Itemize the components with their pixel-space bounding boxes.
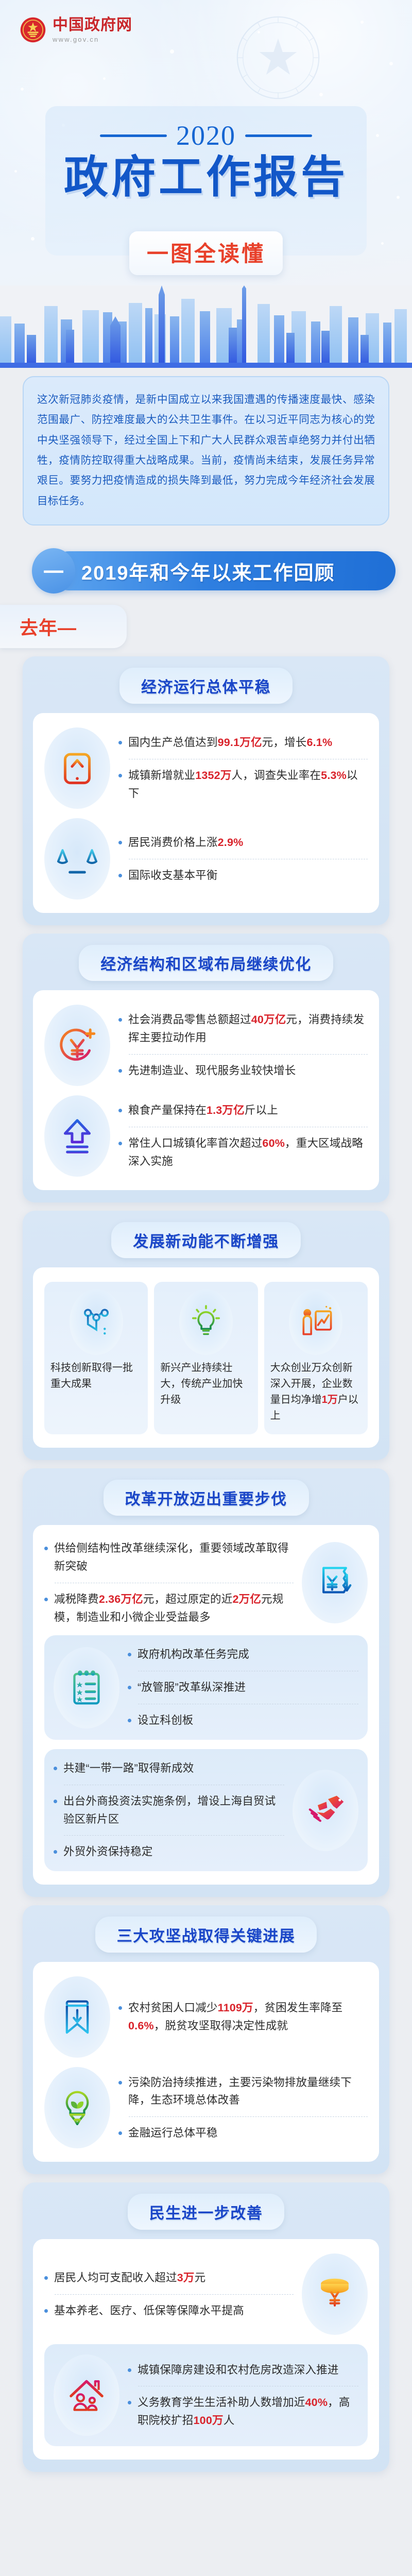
handshake-icon	[304, 1789, 347, 1832]
year-rule-left	[100, 134, 167, 137]
bullet-list: 国内生产总值达到99.1万亿元，增长6.1%城镇新增就业1352万人，调查失业率…	[118, 734, 368, 802]
card-title: 三大攻坚战取得关键进展	[117, 1923, 296, 1946]
bullet-group: 国内生产总值达到99.1万亿元，增长6.1%城镇新增就业1352万人，调查失业率…	[44, 727, 368, 809]
card-title: 民生进一步改善	[149, 2200, 263, 2223]
bullet-subpanel: 城镇保障房建设和农村危房改造深入推进义务教育学生生活补助人数增加近40%，高职院…	[44, 2344, 368, 2446]
bullet-item: 常住人口城镇化率首次超过60%，重大区域战略深入实施	[118, 1134, 368, 1171]
year-tab: 去年—	[0, 605, 127, 648]
card-body: 科技创新取得一批重大成果 新兴产业持续壮大，传统产业加快升级 大众创业万众创新深…	[33, 1267, 379, 1448]
bullet-separator	[129, 2116, 368, 2117]
bullet-text: 设立科创板	[138, 1711, 194, 1730]
bullet-text: 居民人均可支配收入超过3万元	[54, 2269, 205, 2287]
bullet-text: 金融运行总体平稳	[128, 2124, 218, 2142]
card-title-pill: 三大攻坚战取得关键进展	[95, 1917, 317, 1953]
card-notch	[195, 1267, 217, 1277]
bullet-list: 农村贫困人口减少1109万，贫困发生率降至0.6%，脱贫攻坚取得决定性成就	[118, 1999, 368, 2035]
bullet-item: 国内生产总值达到99.1万亿元，增长6.1%	[118, 734, 368, 752]
year-rule-right	[245, 134, 312, 137]
bullet-text: 粮食产量保持在1.3万亿斤以上	[128, 1101, 278, 1120]
icon-container	[44, 818, 110, 900]
bullet-item: 减税降费2.36万亿元，超过原定的近2万亿元规模，制造业和小微企业受益最多	[44, 1590, 294, 1626]
card-title: 经济结构和区域布局继续优化	[100, 952, 312, 974]
hero-banner: 中国政府网 www.gov.cn 2020 政府工作报告 一图全读懂	[0, 0, 412, 289]
bullet-group: 社会消费品零售总额超过40万亿元，消费持续发挥主要拉动作用先进制造业、现代服务业…	[44, 1005, 368, 1086]
bullet-dot	[54, 1767, 57, 1770]
bullet-item: 城镇保障房建设和农村危房改造深入推进	[128, 2361, 358, 2379]
bullet-group: 城镇保障房建设和农村危房改造深入推进义务教育学生生活补助人数增加近40%，高职院…	[54, 2354, 358, 2436]
bullet-text: 国际收支基本平衡	[128, 867, 218, 885]
lightbulb-idea-icon	[187, 1303, 225, 1341]
national-emblem-icon	[20, 16, 46, 43]
bullet-list: 共建“一带一路”取得新成效出台外商投资法实施条例，增设上海自贸试验区新片区外贸外…	[54, 1759, 284, 1861]
bullet-item: 粮食产量保持在1.3万亿斤以上	[118, 1101, 368, 1120]
momentum-text: 新兴产业持续壮大，传统产业加快升级	[160, 1360, 251, 1408]
bullet-text: 农村贫困人口减少1109万，贫困发生率降至0.6%，脱贫攻坚取得决定性成就	[128, 1999, 368, 2035]
content-card: 经济结构和区域布局继续优化 社会消费品零售总额超过40万亿元，消费持续发挥主要拉…	[23, 934, 389, 1202]
bullet-item: 政府机构改革任务完成	[128, 1646, 358, 1664]
balance-scale-icon	[56, 837, 99, 880]
bullet-separator	[138, 1671, 358, 1671]
card-body: 居民人均可支配收入超过3万元基本养老、医疗、低保等保障水平提高 城镇保障房建设和…	[33, 2239, 379, 2460]
bullet-item: 污染防治持续推进，主要污染物排放量继续下降，生态环境总体改善	[118, 2074, 368, 2110]
bullet-text: 城镇新增就业1352万人，调查失业率在5.3%以下	[128, 767, 368, 803]
momentum-column: 大众创业万众创新深入开展，企业数量日均净增1万户以上	[264, 1282, 368, 1434]
hero-title-card: 2020 政府工作报告 一图全读懂	[45, 106, 367, 256]
card-title-pill: 发展新动能不断增强	[111, 1222, 301, 1258]
bullet-item: 居民消费价格上涨2.9%	[118, 834, 368, 852]
bullet-separator	[129, 1127, 368, 1127]
bullet-text: “放管服”改革纵深推进	[138, 1679, 246, 1697]
card-title: 经济运行总体平稳	[141, 674, 271, 697]
bullet-separator	[138, 2386, 358, 2386]
bullet-separator	[129, 759, 368, 759]
bullet-separator	[64, 1835, 284, 1836]
card-title: 改革开放迈出重要步伐	[125, 1486, 287, 1509]
section-title: 2019年和今年以来工作回顾	[81, 557, 335, 585]
section-ordinal: 一	[43, 556, 64, 586]
bullet-item: 先进制造业、现代服务业较快增长	[118, 1062, 368, 1080]
bullet-text: 政府机构改革任务完成	[138, 1646, 249, 1664]
bullet-dot	[118, 874, 122, 877]
icon-container	[44, 1976, 110, 2058]
bullet-separator	[138, 1704, 358, 1704]
icon-container	[179, 1289, 233, 1355]
bullet-text: 供给侧结构性改革继续深化，重要领域改革取得新突破	[54, 1539, 294, 1575]
brand-name: 中国政府网	[53, 18, 132, 33]
bullet-subpanel: 政府机构改革任务完成“放管服”改革纵深推进设立科创板	[44, 1635, 368, 1739]
city-skyline-illustration	[0, 285, 412, 368]
bullet-text: 基本养老、医疗、低保等保障水平提高	[54, 2302, 244, 2320]
person-growth-chart-icon	[297, 1303, 335, 1341]
momentum-column: 科技创新取得一批重大成果	[44, 1282, 148, 1434]
bullet-list: 居民人均可支配收入超过3万元基本养老、医疗、低保等保障水平提高	[44, 2269, 294, 2320]
content-card: 改革开放迈出重要步伐 供给侧结构性改革继续深化，重要领域改革取得新突破减税降费2…	[23, 1468, 389, 1897]
bullet-list: 城镇保障房建设和农村危房改造深入推进义务教育学生生活补助人数增加近40%，高职院…	[128, 2361, 358, 2430]
bullet-dot	[128, 1719, 131, 1722]
bullet-text: 义务教育学生生活补助人数增加近40%，高职院校扩招100万人	[138, 2394, 358, 2430]
icon-container	[70, 1289, 123, 1355]
card-notch	[195, 2239, 217, 2248]
section-ordinal-badge: 一	[32, 548, 75, 594]
bullet-group: 居民消费价格上涨2.9%国际收支基本平衡	[44, 818, 368, 900]
card-notch	[195, 1962, 217, 1971]
bullet-separator	[55, 2294, 294, 2295]
bullet-group: 居民人均可支配收入超过3万元基本养老、医疗、低保等保障水平提高	[44, 2253, 368, 2335]
bullet-separator	[64, 1785, 284, 1785]
bullet-group: 污染防治持续推进，主要污染物排放量继续下降，生态环境总体改善金融运行总体平稳	[44, 2067, 368, 2148]
site-brand[interactable]: 中国政府网 www.gov.cn	[20, 16, 132, 43]
bullet-item: 供给侧结构性改革继续深化，重要领域改革取得新突破	[44, 1539, 294, 1575]
bullet-text: 污染防治持续推进，主要污染物排放量继续下降，生态环境总体改善	[128, 2074, 368, 2110]
bullet-item: 设立科创板	[128, 1711, 358, 1730]
bullet-dot	[128, 1686, 131, 1689]
bullet-item: 农村贫困人口减少1109万，贫困发生率降至0.6%，脱贫攻坚取得决定性成就	[118, 1999, 368, 2035]
bullet-item: 出台外商投资法实施条例，增设上海自贸试验区新片区	[54, 1792, 284, 1828]
icon-container	[302, 2253, 368, 2335]
card-title-pill: 经济运行总体平稳	[119, 668, 293, 704]
icon-container	[293, 1770, 358, 1851]
bullet-item: 国际收支基本平衡	[118, 867, 368, 885]
brand-url: www.gov.cn	[53, 36, 132, 43]
icon-container	[54, 2354, 119, 2436]
card-notch	[195, 990, 217, 999]
year-tab-label: 去年—	[20, 613, 77, 640]
bullet-dot	[118, 774, 122, 777]
bullet-item: 义务教育学生生活补助人数增加近40%，高职院校扩招100万人	[128, 2394, 358, 2430]
bullet-subpanel: 共建“一带一路”取得新成效出台外商投资法实施条例，增设上海自贸试验区新片区外贸外…	[44, 1749, 368, 1871]
bullet-list: 政府机构改革任务完成“放管服”改革纵深推进设立科创板	[128, 1646, 358, 1729]
bullet-dot	[54, 1850, 57, 1854]
national-emblem-watermark-icon	[221, 1, 335, 114]
bullet-dot	[118, 2081, 122, 2084]
bullet-item: 金融运行总体平稳	[118, 2124, 368, 2142]
bullet-group: 供给侧结构性改革继续深化，重要领域改革取得新突破减税降费2.36万亿元，超过原定…	[44, 1539, 368, 1626]
hero-subtitle-pill: 一图全读懂	[129, 231, 283, 275]
card-notch	[195, 1525, 217, 1534]
icon-container	[54, 1647, 119, 1728]
bullet-dot	[118, 1109, 122, 1112]
card-notch	[195, 713, 217, 722]
infographic-page: 中国政府网 www.gov.cn 2020 政府工作报告 一图全读懂	[0, 0, 412, 2486]
bullet-text: 出台外商投资法实施条例，增设上海自贸试验区新片区	[63, 1792, 284, 1828]
bullet-dot	[44, 1547, 48, 1550]
bullet-list: 粮食产量保持在1.3万亿斤以上常住人口城镇化率首次超过60%，重大区域战略深入实…	[118, 1101, 368, 1170]
card-body: 农村贫困人口减少1109万，贫困发生率降至0.6%，脱贫攻坚取得决定性成就 污染…	[33, 1962, 379, 2162]
bullet-text: 常住人口城镇化率首次超过60%，重大区域战略深入实施	[128, 1134, 368, 1171]
bullet-dot	[44, 2276, 48, 2280]
momentum-column: 新兴产业持续壮大，传统产业加快升级	[154, 1282, 257, 1434]
eco-leaf-bulb-icon	[56, 2086, 99, 2129]
bullet-group: 农村贫困人口减少1109万，贫困发生率降至0.6%，脱贫攻坚取得决定性成就	[44, 1976, 368, 2058]
content-card: 发展新动能不断增强 科技创新取得一批重大成果 新兴产业持续壮大，传统产业加快升级	[23, 1211, 389, 1460]
bullet-list: 社会消费品零售总额超过40万亿元，消费持续发挥主要拉动作用先进制造业、现代服务业…	[118, 1011, 368, 1079]
intro-card: 这次新冠肺炎疫情，是新中国成立以来我国遭遇的传播速度最快、感染范围最广、防控难度…	[23, 376, 389, 526]
bullet-separator	[129, 1054, 368, 1055]
bullet-dot	[118, 2006, 122, 2010]
section-header-one: 2019年和今年以来工作回顾 一	[20, 548, 412, 594]
card-title-pill: 民生进一步改善	[128, 2194, 285, 2230]
icon-container	[44, 1095, 110, 1177]
bullet-dot	[128, 2401, 131, 2404]
bullet-item: 社会消费品零售总额超过40万亿元，消费持续发挥主要拉动作用	[118, 1011, 368, 1047]
bullet-item: “放管服”改革纵深推进	[128, 1679, 358, 1697]
hero-subtitle: 一图全读懂	[147, 236, 265, 268]
section-title-pill: 2019年和今年以来工作回顾	[49, 551, 396, 590]
bullet-text: 国内生产总值达到99.1万亿元，增长6.1%	[128, 734, 332, 752]
bullet-text: 先进制造业、现代服务业较快增长	[128, 1062, 296, 1080]
card-body: 供给侧结构性改革继续深化，重要领域改革取得新突破减税降费2.36万亿元，超过原定…	[33, 1525, 379, 1885]
momentum-text: 科技创新取得一批重大成果	[50, 1360, 142, 1392]
bullet-group: 粮食产量保持在1.3万亿斤以上常住人口城镇化率首次超过60%，重大区域战略深入实…	[44, 1095, 368, 1177]
content-card: 三大攻坚战取得关键进展 农村贫困人口减少1109万，贫困发生率降至0.6%，脱贫…	[23, 1905, 389, 2174]
momentum-trio: 科技创新取得一批重大成果 新兴产业持续壮大，传统产业加快升级 大众创业万众创新深…	[44, 1282, 368, 1434]
bullet-text: 减税降费2.36万亿元，超过原定的近2万亿元规模，制造业和小微企业受益最多	[54, 1590, 294, 1626]
circuit-node-icon	[77, 1303, 115, 1341]
icon-container	[302, 1542, 368, 1623]
bullet-item: 城镇新增就业1352万人，调查失业率在5.3%以下	[118, 767, 368, 803]
arrow-up-lines-icon	[56, 1114, 99, 1158]
bullet-dot	[118, 1069, 122, 1073]
card-title-pill: 经济结构和区域布局继续优化	[79, 945, 333, 981]
bullet-list: 供给侧结构性改革继续深化，重要领域改革取得新突破减税降费2.36万亿元，超过原定…	[44, 1539, 294, 1626]
intro-section: 这次新冠肺炎疫情，是新中国成立以来我国遭遇的传播速度最快、感染范围最广、防控难度…	[0, 368, 412, 526]
hero-year: 2020	[176, 120, 236, 151]
bullet-dot	[128, 2368, 131, 2372]
hero-title: 政府工作报告	[45, 154, 367, 201]
house-family-icon	[65, 2374, 108, 2417]
bullet-dot	[44, 2309, 48, 2313]
bullet-dot	[118, 841, 122, 844]
bullet-item: 外贸外资保持稳定	[54, 1843, 284, 1861]
ribbon-down-icon	[56, 1995, 99, 2039]
icon-container	[44, 2067, 110, 2148]
bullet-item: 居民人均可支配收入超过3万元	[44, 2269, 294, 2287]
bullet-item: 共建“一带一路”取得新成效	[54, 1759, 284, 1777]
content-card: 民生进一步改善 居民人均可支配收入超过3万元基本养老、医疗、低保等保障水平提高 …	[23, 2182, 389, 2472]
bullet-item: 基本养老、医疗、低保等保障水平提高	[44, 2302, 294, 2320]
arrow-up-in-box-icon	[56, 747, 99, 790]
coin-stack-yuan-icon	[313, 2273, 356, 2316]
bullet-text: 居民消费价格上涨2.9%	[128, 834, 243, 852]
checklist-clipboard-icon	[65, 1666, 108, 1709]
icon-container	[44, 1005, 110, 1086]
card-body: 社会消费品零售总额超过40万亿元，消费持续发挥主要拉动作用先进制造业、现代服务业…	[33, 990, 379, 1190]
bullet-separator	[55, 1583, 294, 1583]
hero-year-row: 2020	[45, 106, 367, 151]
content-card: 经济运行总体平稳 国内生产总值达到99.1万亿元，增长6.1%城镇新增就业135…	[23, 656, 389, 925]
bullet-group: 政府机构改革任务完成“放管服”改革纵深推进设立科创板	[54, 1646, 358, 1729]
bullet-dot	[118, 1018, 122, 1022]
card-title-pill: 改革开放迈出重要步伐	[104, 1480, 309, 1516]
card-title: 发展新动能不断增强	[133, 1229, 279, 1251]
card-body: 国内生产总值达到99.1万亿元，增长6.1%城镇新增就业1352万人，调查失业率…	[33, 713, 379, 913]
yuan-down-document-icon	[313, 1561, 356, 1604]
icon-container	[289, 1289, 342, 1355]
intro-paragraph: 这次新冠肺炎疫情，是新中国成立以来我国遭遇的传播速度最快、感染范围最广、防控难度…	[37, 389, 375, 511]
momentum-text: 大众创业万众创新深入开展，企业数量日均净增1万户以上	[270, 1360, 362, 1424]
bullet-text: 城镇保障房建设和农村危房改造深入推进	[138, 2361, 339, 2379]
bullet-separator	[129, 859, 368, 859]
bullet-list: 污染防治持续推进，主要污染物排放量继续下降，生态环境总体改善金融运行总体平稳	[118, 2074, 368, 2142]
bullet-text: 外贸外资保持稳定	[63, 1843, 153, 1861]
icon-container	[44, 727, 110, 809]
bullet-dot	[54, 1800, 57, 1803]
yuan-plus-icon	[56, 1024, 99, 1067]
bullet-text: 共建“一带一路”取得新成效	[63, 1759, 194, 1777]
cards-container: 经济运行总体平稳 国内生产总值达到99.1万亿元，增长6.1%城镇新增就业135…	[0, 656, 412, 2472]
bullet-text: 社会消费品零售总额超过40万亿元，消费持续发挥主要拉动作用	[128, 1011, 368, 1047]
bullet-dot	[118, 741, 122, 744]
bullet-group: 共建“一带一路”取得新成效出台外商投资法实施条例，增设上海自贸试验区新片区外贸外…	[54, 1759, 358, 1861]
bullet-dot	[44, 1598, 48, 1601]
bullet-dot	[118, 2131, 122, 2135]
bullet-dot	[128, 1653, 131, 1656]
bullet-dot	[118, 1142, 122, 1145]
bullet-list: 居民消费价格上涨2.9%国际收支基本平衡	[118, 834, 368, 885]
